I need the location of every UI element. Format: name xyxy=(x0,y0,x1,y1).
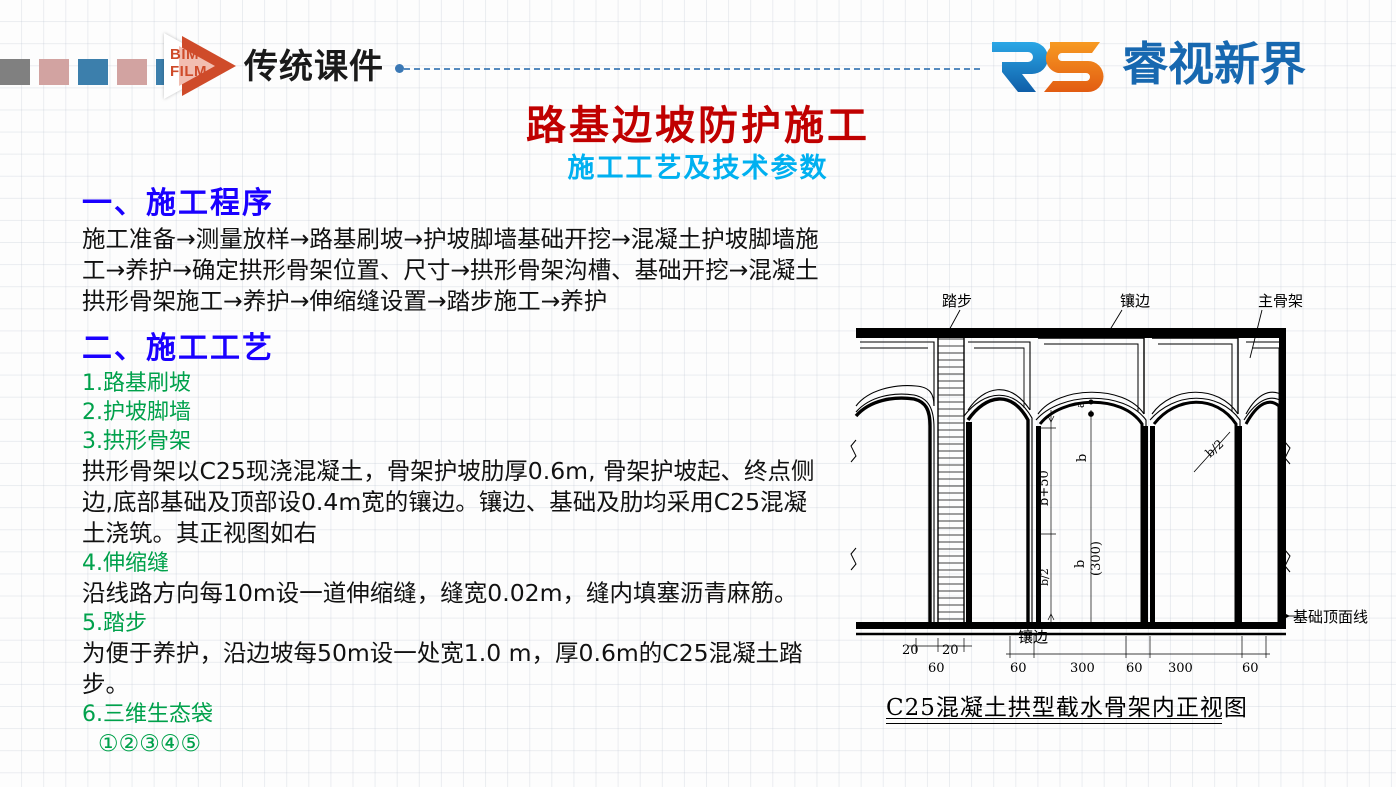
section-heading-1: 一、施工程序 xyxy=(82,178,827,222)
callout-label-xiangbian-top: 镶边 xyxy=(1120,292,1150,310)
bimfilm-line2: FILM xyxy=(170,63,207,80)
process-item-4-label: 4.伸缩缝 xyxy=(82,549,827,578)
dim-60-total: 60 xyxy=(928,661,945,676)
dim-chain-1: 60 xyxy=(1010,661,1027,676)
color-swatch-strip xyxy=(0,59,186,85)
swatch-3 xyxy=(78,59,108,85)
process-item-1-label: 1.路基刷坡 xyxy=(82,369,827,398)
dim-b-upper: b xyxy=(1075,454,1090,462)
dim-chain-5: 60 xyxy=(1242,661,1259,676)
bimfilm-logo-icon: BIM FILM xyxy=(164,33,236,99)
dim-b-plus-50: b+50 xyxy=(1037,470,1052,506)
process-item-5-body: 为便于养护，沿边坡每50m设一处宽1.0 m，厚0.6m的C25混凝土踏步。 xyxy=(82,638,827,700)
dim-b-lower: b xyxy=(1073,560,1088,568)
course-type-label: 传统课件 xyxy=(244,39,384,88)
drawing-svg: 踏步 镶边 主骨架 基础顶面线 镶边 20 20 60 60 300 60 30… xyxy=(838,286,1394,686)
dim-chain-3: 60 xyxy=(1126,661,1143,676)
rs-mark-icon xyxy=(988,36,1116,92)
process-item-3-body: 拱形骨架以C25现浇混凝土，骨架护坡肋厚0.6m, 骨架护坡起、终点侧边,底部基… xyxy=(82,456,827,549)
step-markers: ①②③④⑤ xyxy=(98,729,827,759)
bimfilm-wordmark: BIM FILM xyxy=(170,46,207,80)
process-item-2-label: 2.护坡脚墙 xyxy=(82,398,827,427)
page-title: 路基边坡防护施工 xyxy=(0,93,1396,151)
company-logo: 睿视新界 xyxy=(988,36,1306,92)
callout-label-tabu: 踏步 xyxy=(942,292,972,310)
process-item-3-label: 3.拱形骨架 xyxy=(82,427,827,456)
callout-label-xiangbian-bottom: 镶边 xyxy=(1018,628,1048,646)
content-body: 一、施工程序 施工准备→测量放样→路基刷坡→护坡脚墙基础开挖→混凝土护坡脚墙施工… xyxy=(82,178,827,759)
section-1-paragraph: 施工准备→测量放样→路基刷坡→护坡脚墙基础开挖→混凝土护坡脚墙施工→养护→确定拱… xyxy=(82,224,827,317)
slide-canvas: BIM FILM 传统课件 xyxy=(0,0,1396,787)
process-item-6-label: 6.三维生态袋 xyxy=(82,700,827,729)
swatch-4 xyxy=(117,59,147,85)
diagram-caption: C25混凝土拱型截水骨架内正视图 xyxy=(886,688,1248,722)
swatch-2 xyxy=(39,59,69,85)
process-item-4-body: 沿线路方向每10m设一道伸缩缝，缝宽0.02m，缝内填塞沥青麻筋。 xyxy=(82,578,827,609)
callout-label-zhugujia: 主骨架 xyxy=(1258,292,1303,310)
bimfilm-line1: BIM xyxy=(170,46,207,63)
diagram-caption-underline xyxy=(886,718,1222,724)
divider-dash-line xyxy=(404,68,980,70)
dim-20-right: 20 xyxy=(942,643,959,658)
dim-b-half-left: b/2 xyxy=(1038,568,1051,586)
dim-chain-4: 300 xyxy=(1168,661,1193,676)
divider-dot-icon xyxy=(395,64,404,73)
swatch-1 xyxy=(0,59,30,85)
dim-chain-2: 300 xyxy=(1070,661,1095,676)
process-item-5-label: 5.踏步 xyxy=(82,609,827,638)
dim-20-left: 20 xyxy=(902,643,919,658)
callout-label-jichudingmianxian: 基础顶面线 xyxy=(1293,608,1368,626)
section-heading-2: 二、施工工艺 xyxy=(82,323,827,367)
arch-frame-drawing: 踏步 镶边 主骨架 基础顶面线 镶边 20 20 60 60 300 60 30… xyxy=(838,286,1394,756)
company-name-label: 睿视新界 xyxy=(1122,39,1306,89)
dim-a: a xyxy=(1074,401,1087,408)
header-divider xyxy=(395,67,980,70)
slide-header: BIM FILM 传统课件 xyxy=(0,0,1396,100)
dim-300-paren: (300) xyxy=(1089,541,1104,576)
